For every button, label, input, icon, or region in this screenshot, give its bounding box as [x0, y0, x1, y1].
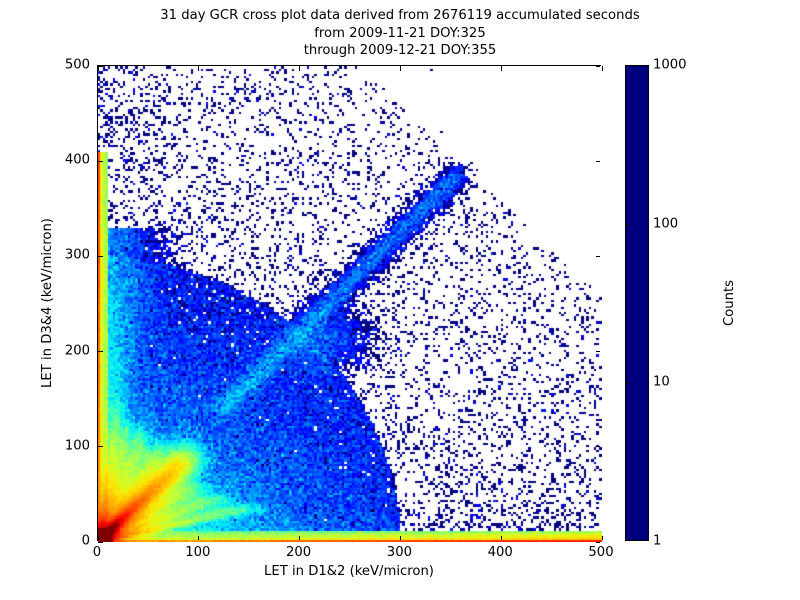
y-tick-200 — [596, 351, 601, 352]
x-tick-0 — [98, 536, 99, 541]
x-tick-label-400: 400 — [488, 545, 513, 560]
y-tick-label-0: 0 — [82, 534, 90, 549]
colorbar-tick-label-1: 1 — [653, 534, 661, 549]
title-line-2: from 2009-11-21 DOY:325 — [0, 25, 800, 43]
colorbar-tick-label-100: 100 — [653, 216, 678, 231]
colorbar-tick-label-1000: 1000 — [653, 58, 687, 73]
y-tick-100 — [98, 446, 103, 447]
y-tick-label-300: 300 — [65, 248, 90, 263]
figure-canvas: 31 day GCR cross plot data derived from … — [0, 0, 800, 600]
x-tick-0 — [98, 66, 99, 71]
y-tick-label-500: 500 — [65, 58, 90, 73]
colorbar-tick-10 — [626, 383, 630, 384]
colorbar-gradient — [626, 66, 648, 540]
y-tick-400 — [98, 161, 103, 162]
y-tick-200 — [98, 351, 103, 352]
x-tick-label-100: 100 — [185, 545, 210, 560]
x-tick-label-500: 500 — [588, 545, 613, 560]
y-tick-label-400: 400 — [65, 153, 90, 168]
x-tick-500 — [602, 66, 603, 71]
plot-axes — [97, 65, 601, 541]
y-axis-label: LET in D3&4 (keV/micron) — [40, 65, 55, 541]
x-tick-500 — [602, 536, 603, 541]
y-tick-300 — [596, 256, 601, 257]
colorbar — [625, 65, 649, 541]
x-tick-400 — [501, 66, 502, 71]
x-axis-label: LET in D1&2 (keV/micron) — [97, 564, 601, 579]
x-tick-300 — [400, 66, 401, 71]
y-tick-500 — [596, 66, 601, 67]
y-tick-0 — [596, 542, 601, 543]
y-tick-100 — [596, 446, 601, 447]
y-tick-300 — [98, 256, 103, 257]
chart-title: 31 day GCR cross plot data derived from … — [0, 7, 800, 60]
y-tick-500 — [98, 66, 103, 67]
x-tick-label-200: 200 — [286, 545, 311, 560]
x-tick-200 — [299, 66, 300, 71]
y-tick-400 — [596, 161, 601, 162]
x-tick-400 — [501, 536, 502, 541]
colorbar-title: Counts — [722, 65, 737, 541]
x-tick-100 — [198, 66, 199, 71]
density-heatmap — [98, 66, 602, 542]
colorbar-tick-label-10: 10 — [653, 375, 670, 390]
x-tick-label-0: 0 — [93, 545, 101, 560]
y-tick-label-100: 100 — [65, 438, 90, 453]
x-tick-label-300: 300 — [387, 545, 412, 560]
x-tick-200 — [299, 536, 300, 541]
x-tick-300 — [400, 536, 401, 541]
x-tick-100 — [198, 536, 199, 541]
y-tick-label-200: 200 — [65, 343, 90, 358]
y-tick-0 — [98, 542, 103, 543]
title-line-1: 31 day GCR cross plot data derived from … — [0, 7, 800, 25]
colorbar-tick-100 — [626, 224, 630, 225]
